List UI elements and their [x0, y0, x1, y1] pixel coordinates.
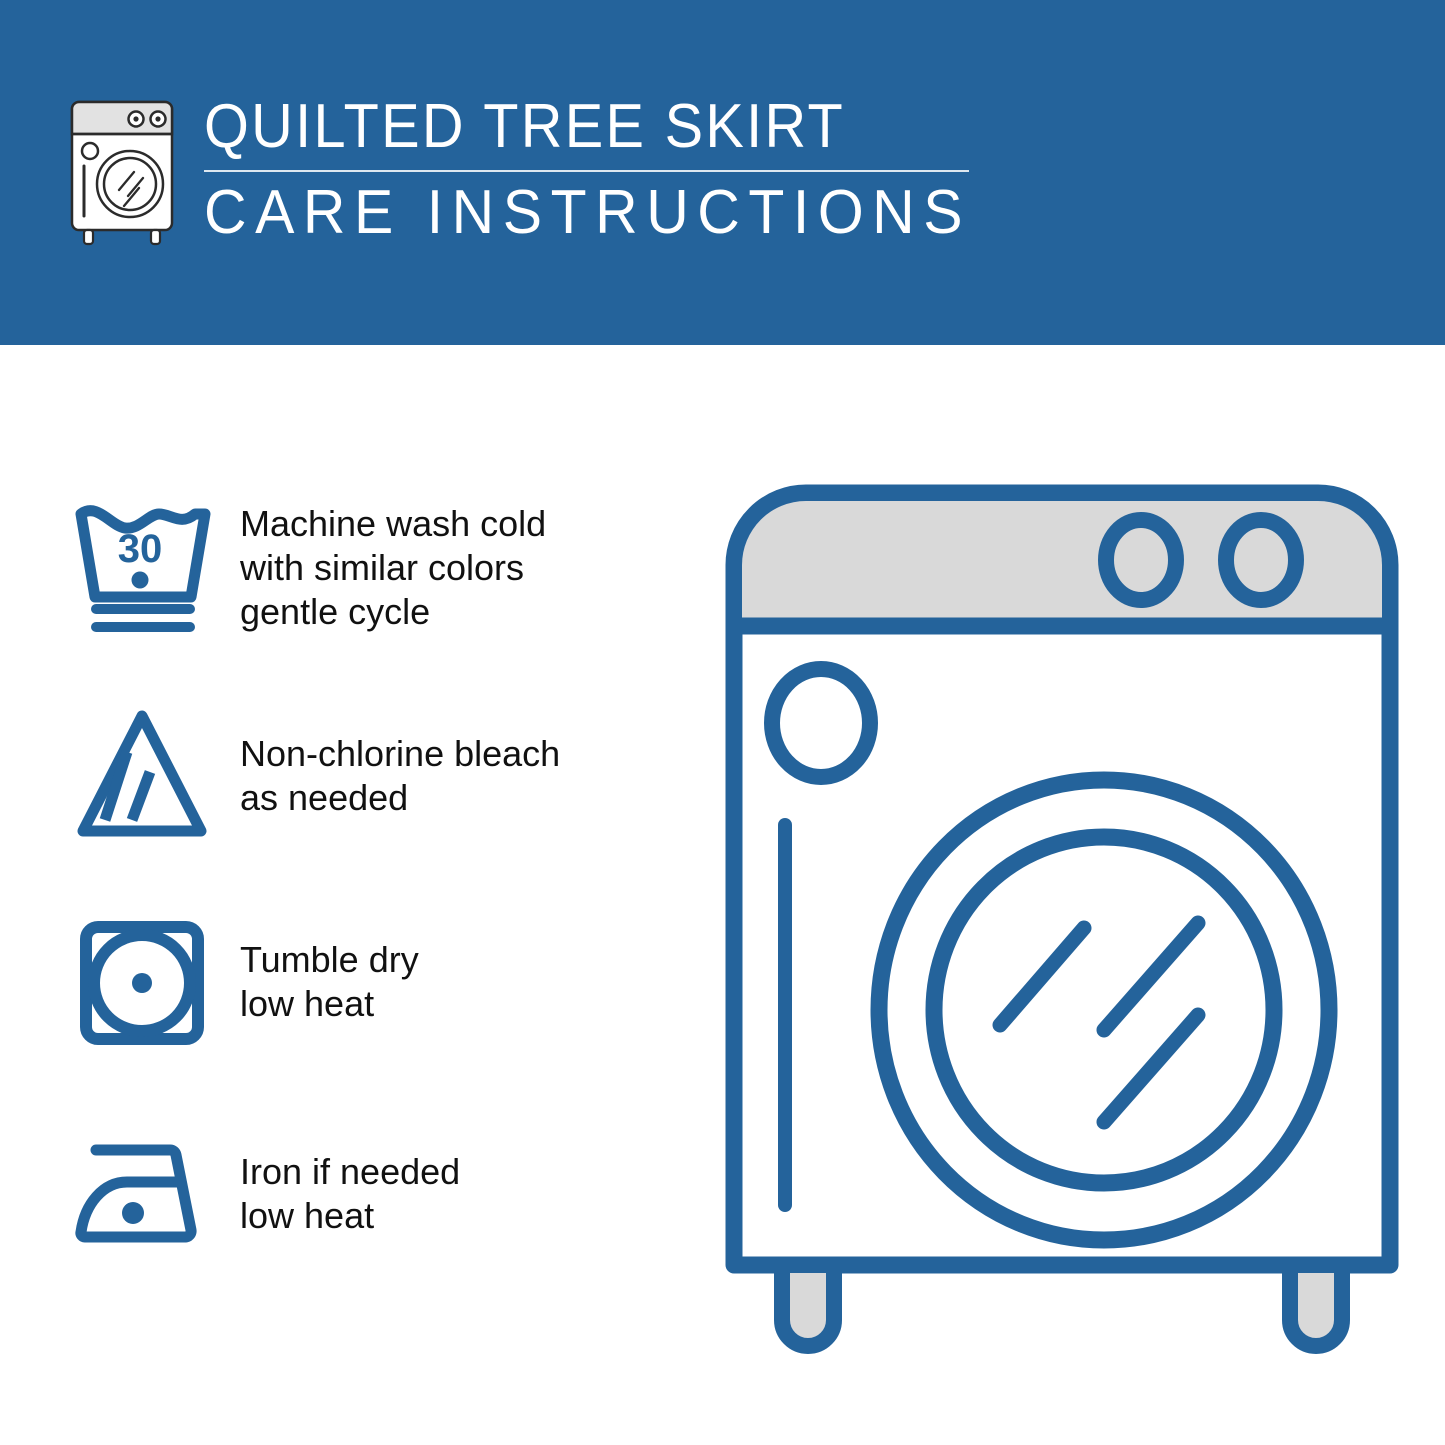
care-text-bleach-line-1: Non-chlorine bleach — [240, 732, 702, 776]
washing-machine-illustration — [712, 470, 1412, 1370]
care-text-bleach-line-2: as needed — [240, 776, 702, 820]
machine-leg-left — [782, 1265, 834, 1346]
machine-leg-right — [1290, 1265, 1342, 1346]
care-text-wash-line-2: with similar colors — [240, 546, 702, 590]
wash-temperature-label: 30 — [118, 527, 163, 571]
header-banner: QUILTED TREE SKIRT CARE INSTRUCTIONS — [0, 0, 1445, 345]
care-text-iron-line-1: Iron if needed — [240, 1150, 702, 1194]
care-text-dry-line-1: Tumble dry — [240, 938, 702, 982]
care-symbol-dry-wrapper — [62, 908, 222, 1058]
care-symbol-wash-wrapper: 30 — [62, 492, 222, 642]
care-instructions-page: QUILTED TREE SKIRT CARE INSTRUCTIONS 30 — [0, 0, 1445, 1445]
care-text-bleach: Non-chlorine bleach as needed — [222, 700, 702, 820]
control-panel — [742, 501, 1382, 625]
page-subtitle: CARE INSTRUCTIONS — [204, 182, 971, 244]
header-title-block: QUILTED TREE SKIRT CARE INSTRUCTIONS — [204, 96, 1011, 244]
machine-wash-cold-30-gentle-symbol: 30 — [67, 492, 217, 642]
tumble-dry-low-symbol — [67, 908, 217, 1058]
care-text-tumble-dry: Tumble dry low heat — [222, 908, 702, 1026]
care-text-wash: Machine wash cold with similar colors ge… — [222, 500, 702, 634]
care-row-bleach: Non-chlorine bleach as needed — [62, 700, 702, 850]
care-text-wash-line-3: gentle cycle — [240, 590, 702, 634]
care-text-dry-line-2: low heat — [240, 982, 702, 1026]
care-row-tumble-dry: Tumble dry low heat — [62, 908, 702, 1058]
iron-low-heat-symbol — [67, 1116, 217, 1266]
care-symbol-bleach-wrapper — [62, 700, 222, 850]
care-row-iron: Iron if needed low heat — [62, 1116, 702, 1266]
care-symbol-iron-wrapper — [62, 1116, 222, 1266]
non-chlorine-bleach-symbol — [67, 700, 217, 850]
care-row-wash: 30 Machine wash cold with similar colors… — [62, 492, 702, 642]
care-text-iron-line-2: low heat — [240, 1194, 702, 1238]
washing-machine-icon — [62, 96, 182, 246]
title-divider — [204, 170, 969, 172]
care-text-iron: Iron if needed low heat — [222, 1116, 702, 1238]
care-text-wash-line-1: Machine wash cold — [240, 502, 702, 546]
header-content: QUILTED TREE SKIRT CARE INSTRUCTIONS — [62, 96, 1011, 246]
care-instruction-list: 30 Machine wash cold with similar colors… — [62, 492, 702, 1266]
page-title: QUILTED TREE SKIRT — [204, 96, 955, 158]
